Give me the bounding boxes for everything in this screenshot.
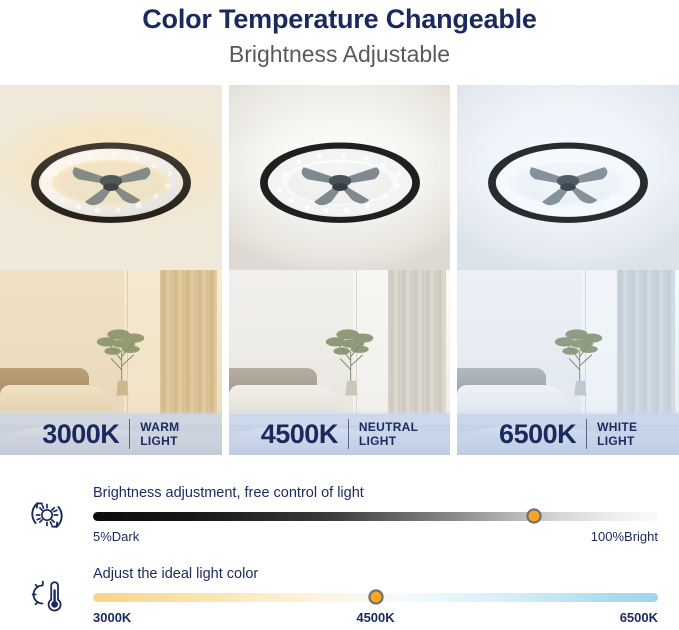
potted-plant	[313, 303, 388, 396]
color-temperature-gallery: 3000K WARM LIGHT	[0, 85, 679, 455]
potted-plant	[542, 303, 617, 396]
color-mid-label: 4500K	[356, 610, 394, 626]
product-infographic: Color Temperature Changeable Brightness …	[0, 0, 679, 630]
thermometer-sun-icon	[0, 572, 93, 620]
brightness-track-row[interactable]	[93, 509, 658, 523]
mood-line-1: WHITE	[597, 420, 637, 434]
brightness-scale: 5%Dark 100%Bright	[93, 529, 658, 547]
color-temperature-knob[interactable]	[368, 589, 383, 604]
panel-caption-neutral: 4500K NEUTRAL LIGHT	[229, 419, 451, 449]
panel-caption-white: 6500K WHITE LIGHT	[457, 419, 679, 449]
pillows	[457, 385, 568, 411]
kelvin-value: 4500K	[261, 421, 338, 448]
brightness-section: Brightness adjustment, free control of l…	[0, 470, 679, 560]
color-temperature-section: Adjust the ideal light color 3000K 4500K…	[0, 562, 679, 630]
curtain	[160, 270, 218, 429]
brightness-min-label: 5%Dark	[93, 529, 139, 545]
color-max-label: 6500K	[620, 610, 658, 626]
pillows	[229, 385, 340, 411]
ceiling-fan-light	[253, 96, 426, 266]
brightness-label: Brightness adjustment, free control of l…	[93, 484, 658, 502]
curtain	[388, 270, 446, 429]
brightness-max-label: 100%Bright	[591, 529, 658, 545]
color-track-row[interactable]	[93, 590, 658, 604]
sun-rotate-icon	[0, 491, 93, 539]
page-subtitle: Brightness Adjustable	[0, 38, 679, 70]
brightness-track[interactable]	[93, 512, 658, 521]
kelvin-value: 3000K	[42, 421, 119, 448]
color-temperature-label: Adjust the ideal light color	[93, 565, 658, 583]
kelvin-value: 6500K	[499, 421, 576, 448]
pillows	[0, 385, 111, 411]
curtain	[617, 270, 675, 429]
mood-label: WHITE LIGHT	[597, 420, 637, 448]
gallery-panel-warm[interactable]: 3000K WARM LIGHT	[0, 85, 222, 455]
page-title: Color Temperature Changeable	[0, 2, 679, 36]
mood-label: NEUTRAL LIGHT	[359, 420, 418, 448]
brightness-control: Brightness adjustment, free control of l…	[93, 484, 679, 547]
mood-line-2: LIGHT	[597, 434, 637, 448]
color-temperature-scale: 3000K 4500K 6500K	[93, 610, 658, 628]
color-temperature-control: Adjust the ideal light color 3000K 4500K…	[93, 565, 679, 628]
mood-line-2: LIGHT	[359, 434, 418, 448]
potted-plant	[84, 303, 159, 396]
mood-line-1: WARM	[140, 420, 179, 434]
mood-line-2: LIGHT	[140, 434, 179, 448]
panel-caption-warm: 3000K WARM LIGHT	[0, 419, 222, 449]
ceiling-fan-light	[482, 96, 655, 266]
caption-divider	[586, 419, 587, 449]
gallery-panel-neutral[interactable]: 4500K NEUTRAL LIGHT	[229, 85, 451, 455]
brightness-knob[interactable]	[526, 508, 541, 523]
mood-line-1: NEUTRAL	[359, 420, 418, 434]
gallery-panel-white[interactable]: 6500K WHITE LIGHT	[457, 85, 679, 455]
mood-label: WARM LIGHT	[140, 420, 179, 448]
caption-divider	[129, 419, 130, 449]
header: Color Temperature Changeable Brightness …	[0, 0, 679, 70]
ceiling-fan-light	[24, 96, 197, 266]
color-min-label: 3000K	[93, 610, 131, 626]
caption-divider	[348, 419, 349, 449]
